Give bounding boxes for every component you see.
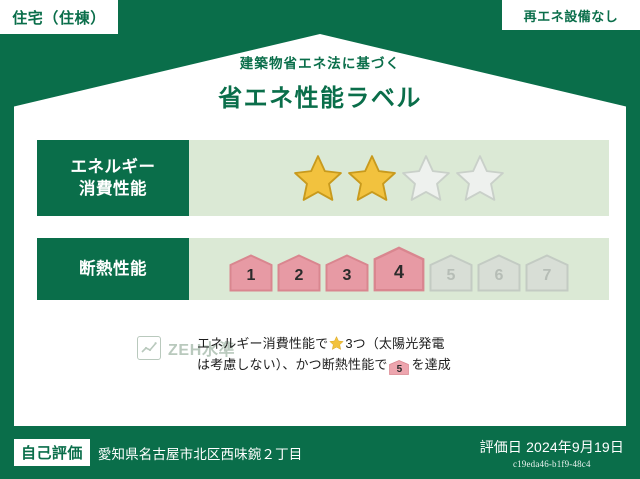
title-subtitle: 建築物省エネ法に基づく — [0, 52, 640, 72]
insulation-level-badge: 7 — [525, 254, 569, 292]
insulation-level-value: 2 — [295, 267, 304, 292]
insulation-level-badge: 4 — [373, 246, 425, 292]
zeh-section: ZEH水準 エネルギー消費性能で3つ（太陽光発電 は考慮しない）、かつ断熱性能で… — [37, 330, 609, 392]
zeh-desc-text-d: を達成 — [411, 357, 450, 372]
star-rating — [293, 154, 505, 202]
insulation-level-value: 5 — [447, 267, 456, 292]
insulation-level-badge: 2 — [277, 254, 321, 292]
renewable-energy-tab: 再エネ設備なし — [502, 0, 640, 30]
building-type-label: 住宅（住棟） — [12, 7, 106, 28]
insulation-key-label: 断熱性能 — [79, 258, 147, 280]
insulation-key: 断熱性能 — [37, 238, 189, 300]
energy-key-line2: 消費性能 — [79, 178, 147, 200]
insulation-value: 1234567 — [189, 238, 609, 300]
insulation-level-value: 3 — [343, 267, 352, 292]
insulation-level-value: 6 — [495, 267, 504, 292]
energy-key-line1: エネルギー — [71, 156, 156, 178]
inline-badge-value: 5 — [389, 360, 409, 379]
renewable-energy-label: 再エネ設備なし — [524, 6, 619, 25]
zeh-desc-text-c: は考慮しない）、かつ断熱性能で — [197, 357, 387, 372]
star-filled-icon — [293, 154, 343, 202]
zeh-desc-text-b: 3つ（太陽光発電 — [345, 336, 444, 351]
zeh-description-line1: エネルギー消費性能で3つ（太陽光発電 — [197, 333, 609, 354]
zeh-chart-icon — [137, 336, 161, 360]
zeh-description: エネルギー消費性能で3つ（太陽光発電 は考慮しない）、かつ断熱性能で5を達成 — [197, 330, 609, 375]
title-block: 建築物省エネ法に基づく 省エネ性能ラベル — [0, 52, 640, 113]
zeh-desc-text-a: エネルギー消費性能で — [197, 336, 328, 351]
star-filled-icon — [347, 154, 397, 202]
energy-consumption-value — [189, 140, 609, 216]
energy-consumption-key: エネルギー 消費性能 — [37, 140, 189, 216]
footer-left: 自己評価 愛知県名古屋市北区西味鋺２丁目 — [0, 439, 302, 466]
star-empty-icon — [401, 154, 451, 202]
insulation-row: 断熱性能 1234567 — [37, 238, 609, 300]
insulation-level-value: 7 — [543, 267, 552, 292]
page-title: 省エネ性能ラベル — [0, 78, 640, 113]
insulation-level-badge: 6 — [477, 254, 521, 292]
self-assessment-badge: 自己評価 — [14, 439, 90, 466]
energy-performance-label: 住宅（住棟） 再エネ設備なし 建築物省エネ法に基づく 省エネ性能ラベル エネルギ… — [0, 0, 640, 479]
zeh-description-line2: は考慮しない）、かつ断熱性能で5を達成 — [197, 354, 609, 375]
insulation-level-scale: 1234567 — [229, 246, 569, 292]
inline-insulation-badge: 5 — [389, 360, 409, 375]
evaluation-date: 評価日 2024年9月19日 — [480, 437, 624, 457]
footer-right: 評価日 2024年9月19日 c19eda46-b1f9-48c4 — [480, 437, 640, 469]
insulation-level-badge: 5 — [429, 254, 473, 292]
footer-bar: 自己評価 愛知県名古屋市北区西味鋺２丁目 評価日 2024年9月19日 c19e… — [0, 426, 640, 479]
building-address: 愛知県名古屋市北区西味鋺２丁目 — [98, 443, 303, 463]
insulation-level-badge: 3 — [325, 254, 369, 292]
zeh-mark: ZEH水準 — [37, 330, 197, 360]
insulation-level-badge: 1 — [229, 254, 273, 292]
energy-consumption-row: エネルギー 消費性能 — [37, 140, 609, 216]
building-type-tab: 住宅（住棟） — [0, 0, 118, 34]
insulation-level-value: 4 — [394, 262, 404, 292]
insulation-level-value: 1 — [247, 267, 256, 292]
evaluation-id: c19eda46-b1f9-48c4 — [480, 459, 624, 469]
star-icon — [329, 336, 344, 350]
star-empty-icon — [455, 154, 505, 202]
